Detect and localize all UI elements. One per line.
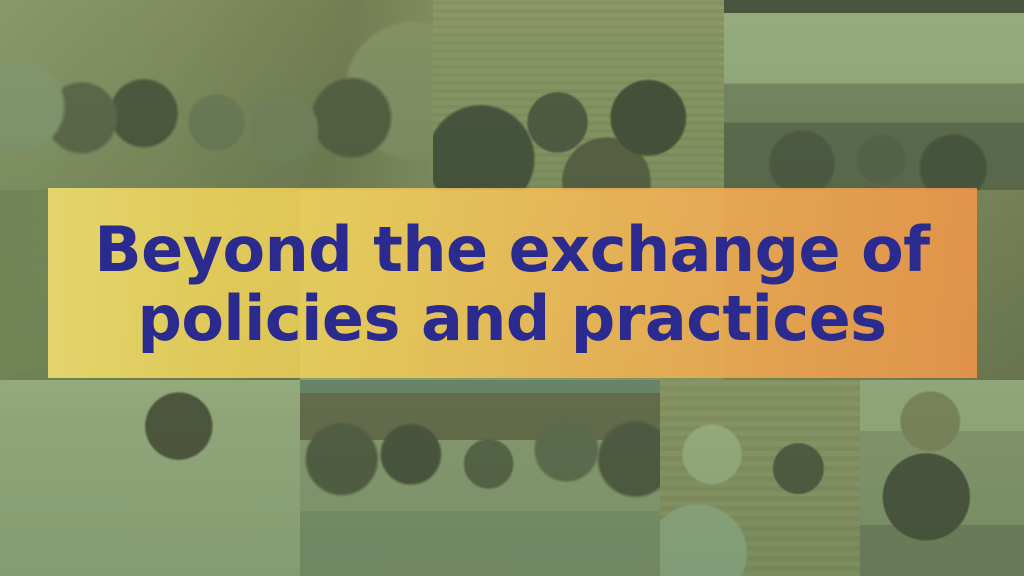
- presentation-slide: CICG Beyond the exchange of policies and…: [0, 0, 1024, 576]
- title-line-1: Beyond the exchange of: [94, 218, 929, 281]
- collage-photo-committee-room: [300, 380, 660, 576]
- collage-photo-audience-question: [860, 380, 1024, 576]
- collage-photo-panel-discussion: [660, 380, 860, 576]
- collage-photo-group-portrait: [0, 0, 433, 190]
- page-title: Beyond the exchange of policies and prac…: [0, 186, 1024, 382]
- collage-photo-roundtable-microphone: [433, 0, 724, 190]
- collage-photo-plenary-hall: [724, 0, 1024, 190]
- collage-photo-podium-speaker: CICG: [0, 380, 300, 576]
- title-line-2: policies and practices: [137, 287, 886, 350]
